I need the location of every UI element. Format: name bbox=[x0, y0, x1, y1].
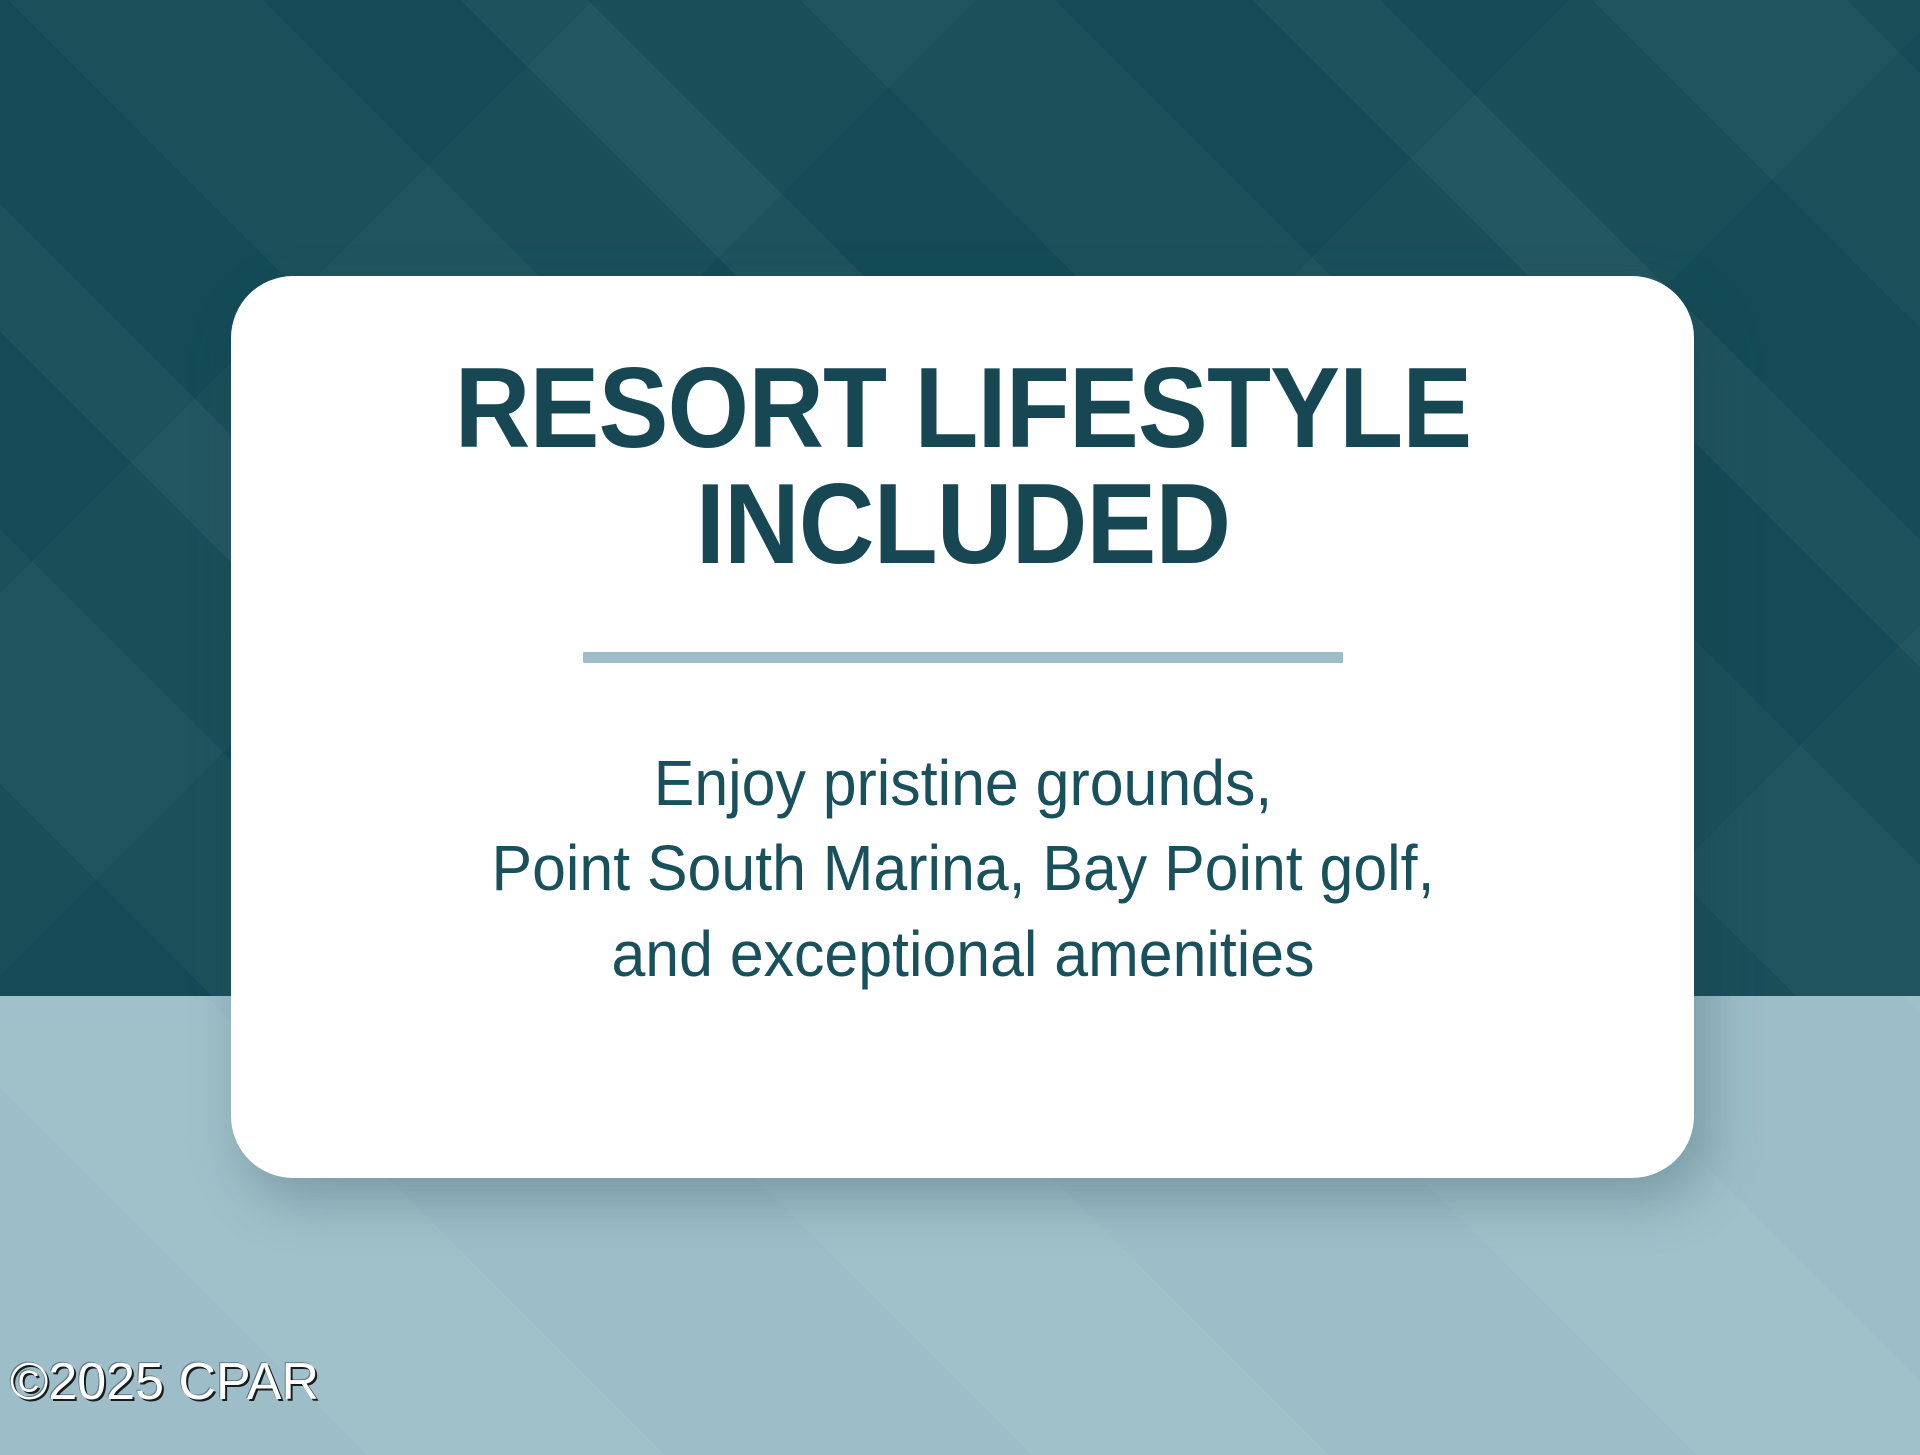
card-title-line-1: RESORT LIFESTYLE bbox=[392, 351, 1533, 467]
card-title: RESORT LIFESTYLE INCLUDED bbox=[392, 276, 1533, 584]
card-body-text: Enjoy pristine grounds, Point South Mari… bbox=[383, 663, 1542, 998]
copyright-watermark: ©2025 CPAR bbox=[10, 1352, 319, 1412]
card-body-line-3: and exceptional amenities bbox=[383, 912, 1542, 998]
title-divider bbox=[583, 652, 1343, 663]
card-title-line-2: INCLUDED bbox=[392, 467, 1533, 583]
card-body-line-1: Enjoy pristine grounds, bbox=[383, 741, 1542, 827]
promo-slide: RESORT LIFESTYLE INCLUDED Enjoy pristine… bbox=[0, 0, 1920, 1455]
content-card: RESORT LIFESTYLE INCLUDED Enjoy pristine… bbox=[231, 276, 1694, 1178]
card-body-line-2: Point South Marina, Bay Point golf, bbox=[383, 826, 1542, 912]
